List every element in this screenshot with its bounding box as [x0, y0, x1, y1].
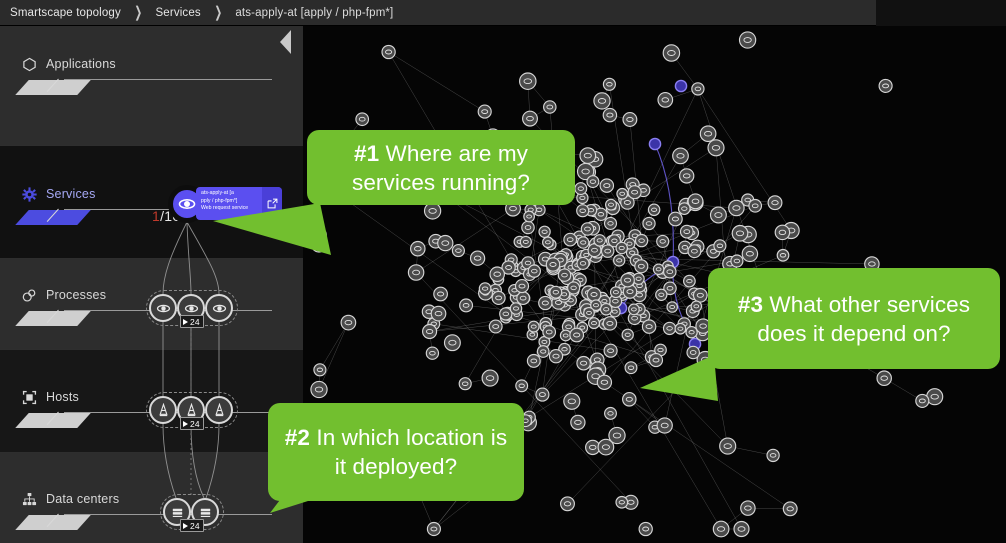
process-node-icon	[183, 300, 200, 317]
callout-2-number: #2	[285, 425, 310, 450]
process-node-icon	[211, 300, 228, 317]
process-icon	[22, 288, 37, 303]
callout-2: #2 In which location is it deployed?	[268, 403, 524, 501]
datacenter-more-count: 24	[190, 521, 200, 531]
smartscape-app: Smartscape topology ❯ Services ❯ ats-app…	[0, 0, 1006, 543]
host-node-icon	[156, 403, 171, 418]
callout-3-text: #3 What other services does it depend on…	[722, 290, 986, 348]
callout-2-text: #2 In which location is it deployed?	[282, 423, 510, 481]
play-icon	[183, 523, 188, 529]
host-more-badge[interactable]: 24	[180, 417, 204, 430]
gear-icon	[22, 187, 37, 202]
callout-3: #3 What other services does it depend on…	[708, 268, 1000, 369]
play-icon	[183, 421, 188, 427]
breadcrumb-tail	[876, 0, 1006, 26]
process-node-icon	[155, 300, 172, 317]
host-node[interactable]	[205, 396, 233, 424]
callout-1: #1 Where are my services running?	[307, 130, 575, 205]
process-more-badge[interactable]: 24	[180, 315, 204, 328]
callout-3-body: What other services does it depend on?	[757, 292, 970, 346]
breadcrumb: Smartscape topology ❯ Services ❯ ats-app…	[0, 0, 1006, 26]
category-label: Services	[46, 187, 96, 201]
category-graphic-applications	[22, 77, 272, 99]
category-label: Processes	[46, 288, 106, 302]
process-more-count: 24	[190, 317, 200, 327]
breadcrumb-item-services[interactable]: Services	[155, 7, 200, 19]
callout-1-tail	[213, 203, 333, 293]
collapse-panel-icon[interactable]	[280, 30, 291, 54]
host-node-icon	[184, 403, 199, 418]
category-label: Hosts	[46, 390, 79, 404]
category-label: Data centers	[46, 492, 119, 506]
host-node[interactable]	[149, 396, 177, 424]
play-icon	[183, 319, 188, 325]
breadcrumb-item-topology[interactable]: Smartscape topology	[10, 7, 121, 19]
callout-3-number: #3	[738, 292, 763, 317]
callout-1-number: #1	[354, 141, 379, 166]
process-node[interactable]	[205, 294, 233, 322]
breadcrumb-item-current[interactable]: ats-apply-at [apply / php-fpm*]	[235, 7, 393, 19]
service-icon	[177, 194, 197, 214]
breadcrumb-separator-icon: ❯	[134, 5, 142, 20]
host-node-icon	[212, 403, 227, 418]
category-label: Applications	[46, 57, 116, 71]
process-node[interactable]	[149, 294, 177, 322]
datacenter-icon	[22, 492, 37, 507]
callout-1-text: #1 Where are my services running?	[321, 139, 561, 197]
host-icon	[22, 390, 37, 405]
callout-2-body: In which location is it deployed?	[316, 425, 507, 479]
services-count-selected: 1	[152, 208, 160, 224]
hexagon-icon	[22, 57, 37, 72]
category-applications[interactable]: Applications	[22, 56, 272, 99]
service-name-line1: ats-apply-at [a	[201, 190, 258, 197]
callout-1-body: Where are my services running?	[352, 141, 530, 195]
breadcrumb-separator-icon: ❯	[214, 5, 222, 20]
host-more-count: 24	[190, 419, 200, 429]
datacenter-node-icon	[170, 505, 185, 520]
